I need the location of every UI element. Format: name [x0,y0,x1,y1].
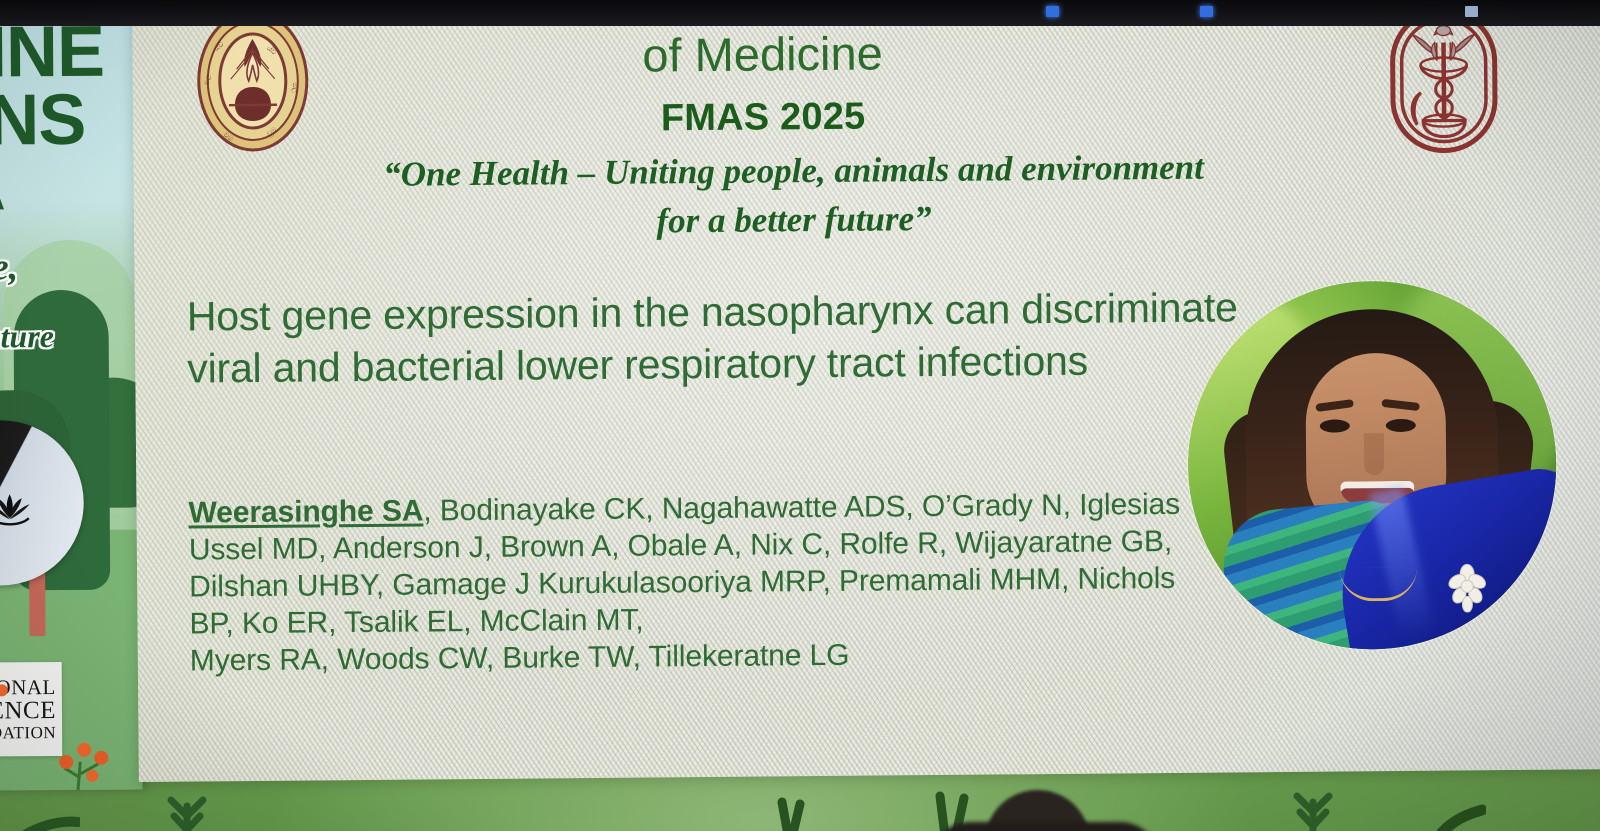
event-theme-line-1: “One Health – Uniting people, animals an… [383,148,1204,194]
lotus-flower-icon [0,490,33,528]
poster-theme-fragment-people: ople, [0,245,18,289]
event-theme-tagline: “One Health – Uniting people, animals an… [163,141,1424,250]
svg-text:ඹල: ඹල [291,82,300,94]
presentation-room-photo: CINE ONS A ople, r future TIONAL ENCE ND… [0,0,1600,831]
poster-title-fragment-sessions: ONS [0,84,86,157]
author-list: Weerasinghe SA, Bodinayake CK, Nagahawat… [188,484,1355,679]
led-indicator-icon [1465,6,1478,17]
first-author-name: Weerasinghe SA [188,494,423,529]
led-indicator-icon [1046,6,1059,17]
orange-flower-icon [0,680,12,729]
leaf-sprig-icon [20,800,80,831]
floral-brooch-icon [1445,562,1489,612]
event-name-fmas-2025: FMAS 2025 [133,91,1393,145]
author-line-1-rest: , Bodinayake CK, Nagahawatte ADS, O’Grad… [423,488,1180,528]
portrait-nose [1364,433,1384,475]
session-header-line-2: of Medicine [132,25,1392,85]
poster-title-fragment-medicine: CINE [0,16,104,89]
ceiling-band [0,0,1600,26]
presentation-title: Host gene expression in the nasopharynx … [187,282,1258,395]
led-indicator-icon [1200,6,1213,17]
orange-flower-icon [54,728,117,791]
event-theme-line-2: for a better future” [656,199,931,240]
grass-sprig-icon [165,792,209,831]
projected-slide: ය්වී ය්වී ඹල ඹල වුම වුම [132,0,1600,782]
poster-theme-fragment-future: r future [0,318,54,356]
presenter-portrait-photo [1187,280,1558,651]
leaf-sprig-icon [1430,786,1486,831]
audience-shoulder-silhouette [930,822,1160,831]
poster-title-fragment-a: A [0,158,5,220]
grass-sprig-icon [1290,790,1336,831]
leaf-sprig-icon [770,790,810,831]
left-event-poster: CINE ONS A ople, r future TIONAL ENCE ND… [0,0,142,790]
